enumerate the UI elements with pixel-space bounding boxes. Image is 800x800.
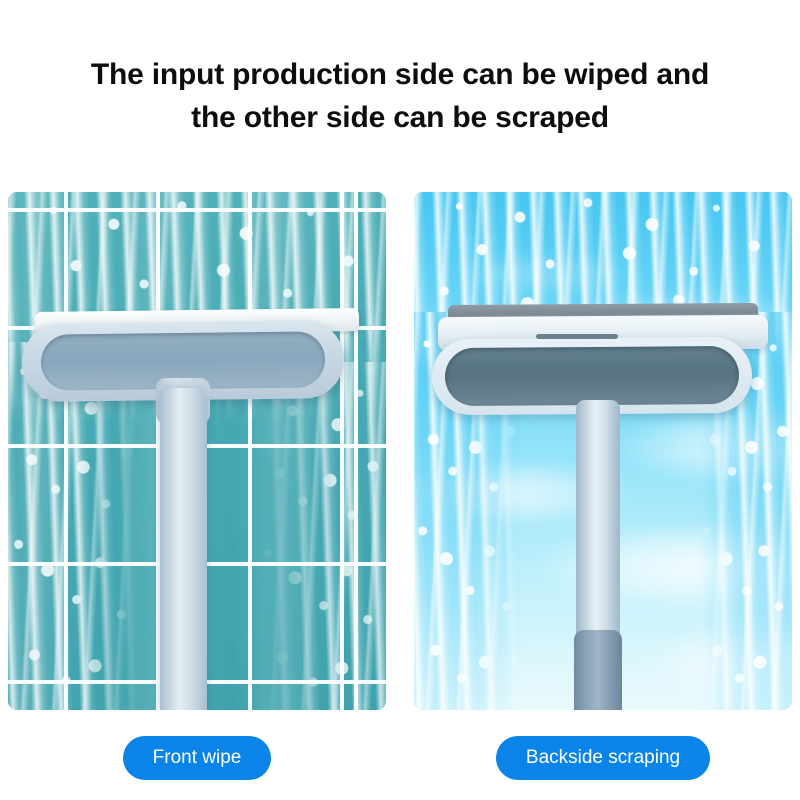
squeegee-tool-back (414, 192, 792, 710)
backside-scraping-button[interactable]: Backside scraping (496, 736, 710, 780)
handle-pole (576, 400, 620, 636)
caption-slot-left: Front wipe (8, 738, 386, 778)
handle-pole-lower-section (574, 630, 622, 710)
squeegee-tool-front (8, 192, 386, 710)
panel-backside-scraping[interactable] (414, 192, 792, 710)
head-vent-slot (536, 334, 618, 339)
caption-slot-right: Backside scraping (414, 738, 792, 778)
panel-front-wipe[interactable] (8, 192, 386, 710)
page-title-line-1: The input production side can be wiped a… (24, 54, 776, 97)
backside-pad (445, 346, 739, 406)
front-wipe-button[interactable]: Front wipe (123, 736, 272, 780)
comparison-panels (8, 192, 792, 710)
page-title-line-2: the other side can be scraped (24, 97, 776, 140)
page-title: The input production side can be wiped a… (0, 54, 800, 139)
handle-pole (160, 388, 207, 710)
caption-row: Front wipe Backside scraping (8, 738, 792, 778)
